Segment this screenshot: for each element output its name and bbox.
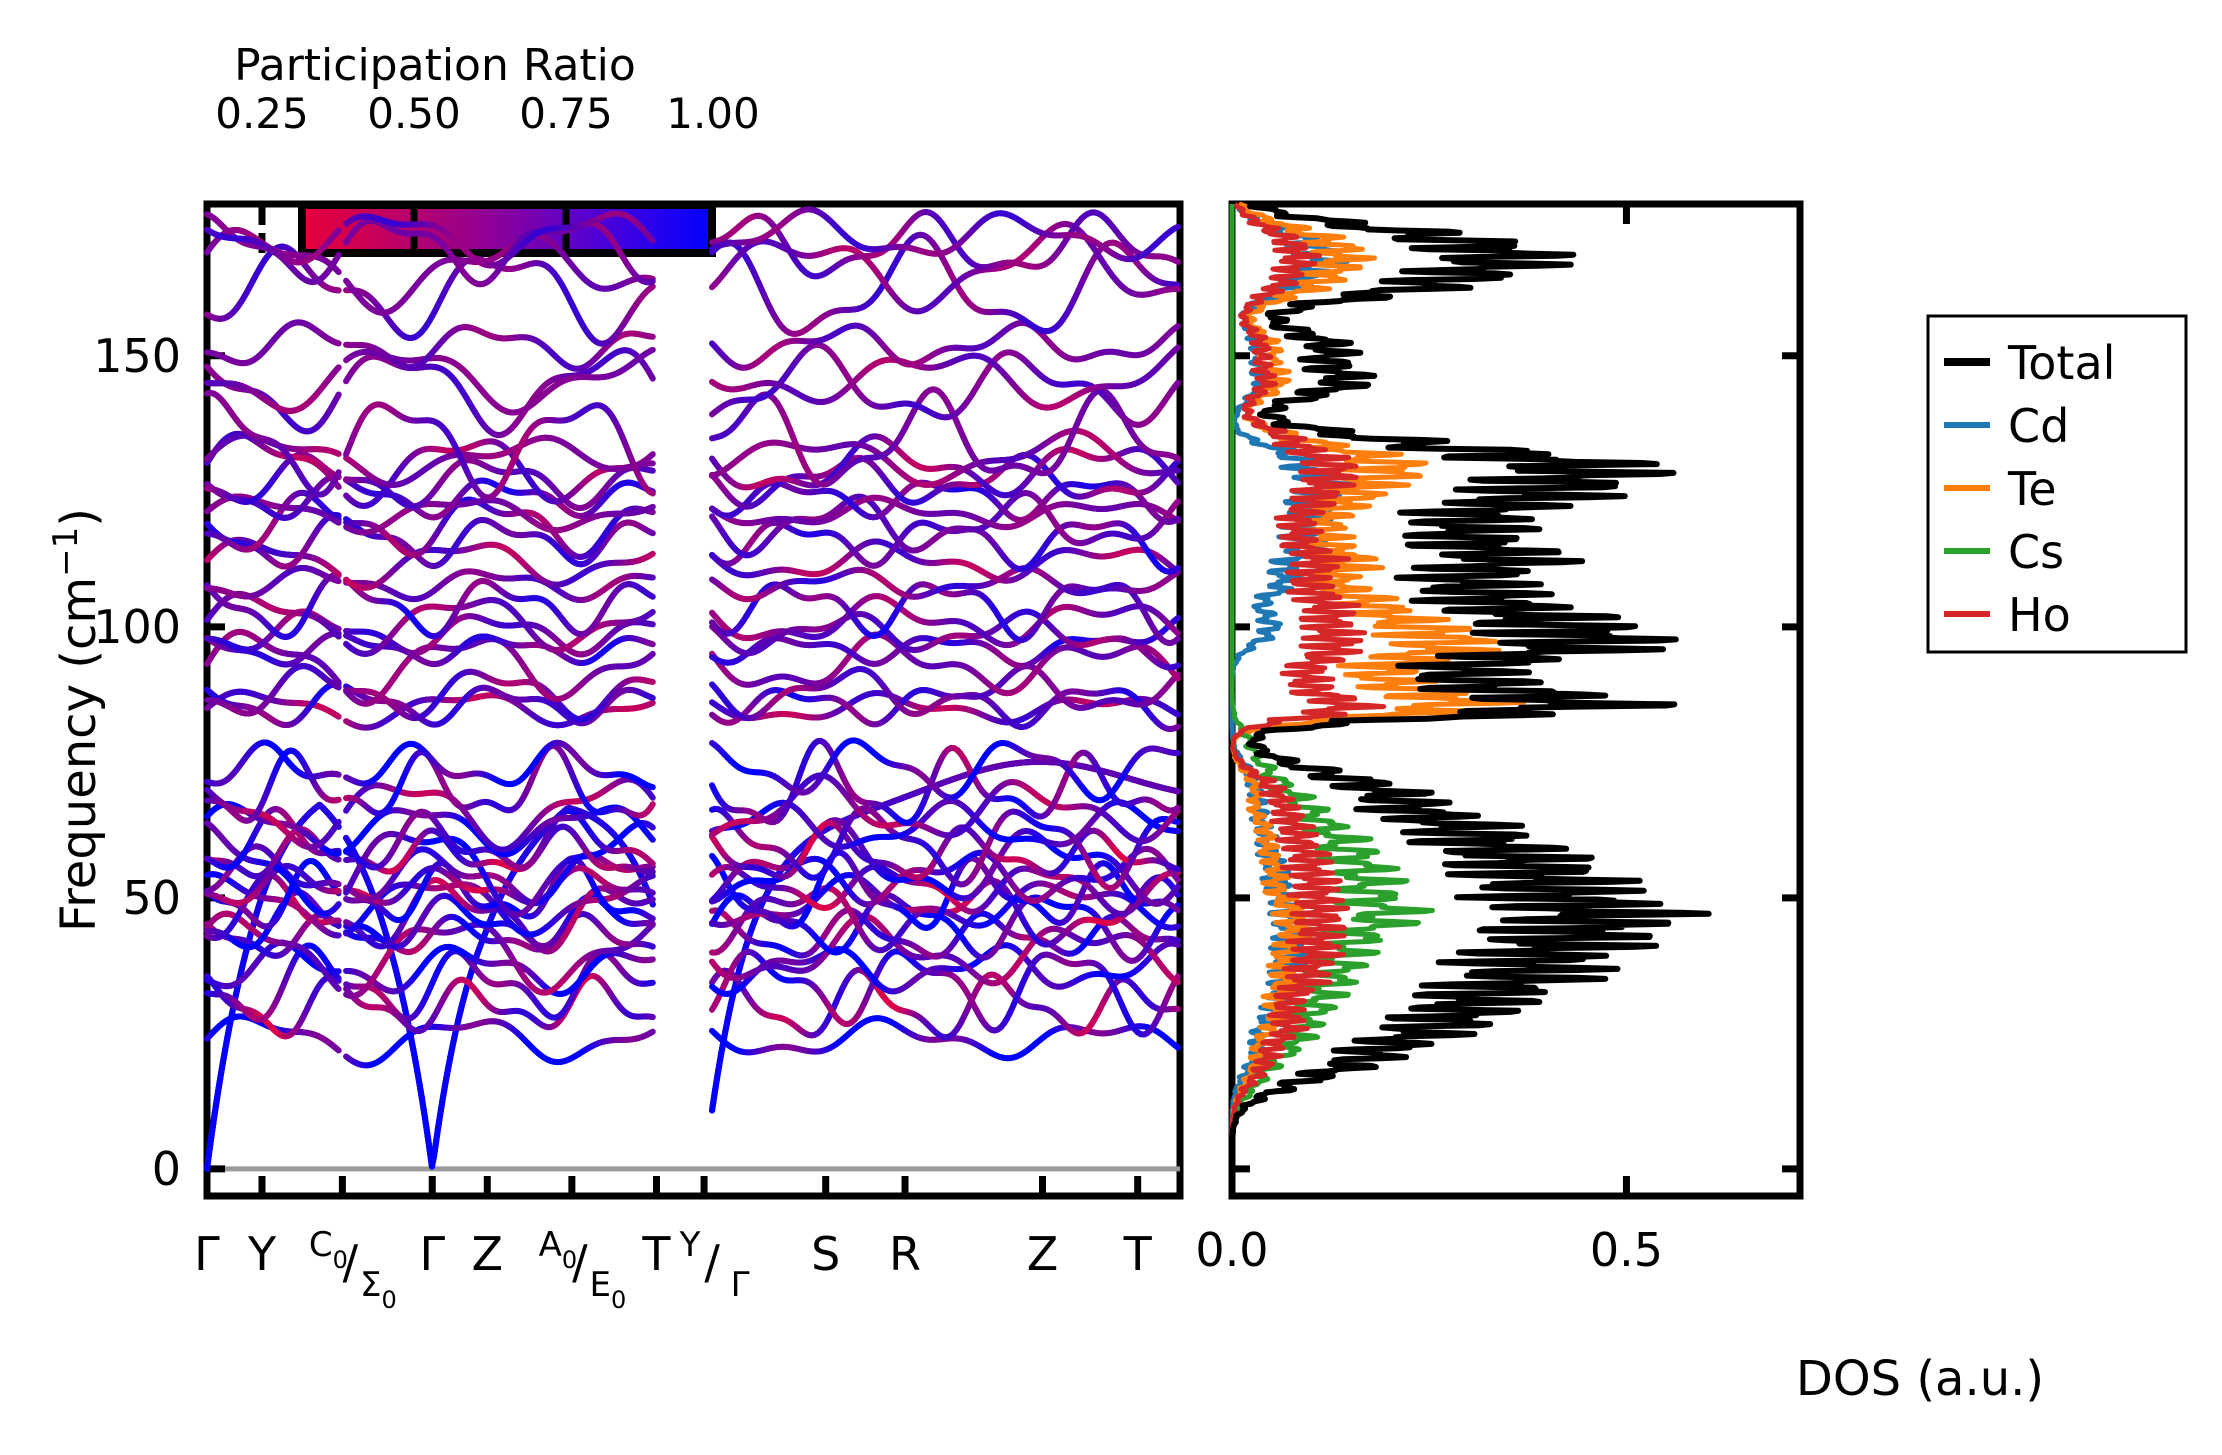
band-segment: [1175, 940, 1178, 941]
k-point-label: Y/Γ: [679, 1225, 750, 1305]
k-point-label: C0/Σ0: [309, 1225, 397, 1314]
k-point-label: Y: [247, 1227, 277, 1281]
k-point-label: Γ: [194, 1227, 220, 1281]
band-curves: [207, 209, 1178, 1168]
plots-area: Frequency (cm−1) 050100150ΓYC0/Σ0ΓZA0/E0…: [0, 0, 2222, 1455]
band-structure-plot: 050100150ΓYC0/Σ0ΓZA0/E0TY/ΓSRZT: [93, 204, 1180, 1314]
band-segment: [1175, 944, 1178, 945]
band-segment: [712, 1090, 715, 1110]
band-segment: [651, 1032, 653, 1033]
band-segment: [651, 899, 653, 900]
k-point-label: S: [811, 1227, 840, 1281]
y-tick-label: 100: [93, 600, 181, 654]
k-point-label: T: [1123, 1227, 1153, 1281]
k-point-label: Z: [472, 1227, 504, 1281]
y-tick-label: 0: [152, 1142, 181, 1196]
band-segment: [1175, 791, 1178, 792]
y-tick-label: 50: [122, 871, 181, 925]
figure-canvas: Participation Ratio 0.25 0.50 0.75 1.00 …: [0, 0, 2222, 1455]
y-axis-label: Frequency (cm−1): [46, 508, 107, 932]
k-point-label: A0/E0: [539, 1225, 627, 1314]
band-segment: [1175, 1045, 1178, 1048]
k-point-label: Γ: [419, 1227, 445, 1281]
band-segment: [338, 1050, 339, 1051]
y-tick-label: 150: [93, 329, 181, 383]
k-point-label: T: [641, 1227, 671, 1281]
band-segment: [1175, 980, 1178, 982]
band-segment: [651, 946, 653, 947]
band-segment: [338, 977, 339, 978]
k-point-label: Z: [1027, 1227, 1059, 1281]
band-segment: [338, 988, 339, 989]
k-point-label: R: [889, 1227, 921, 1281]
